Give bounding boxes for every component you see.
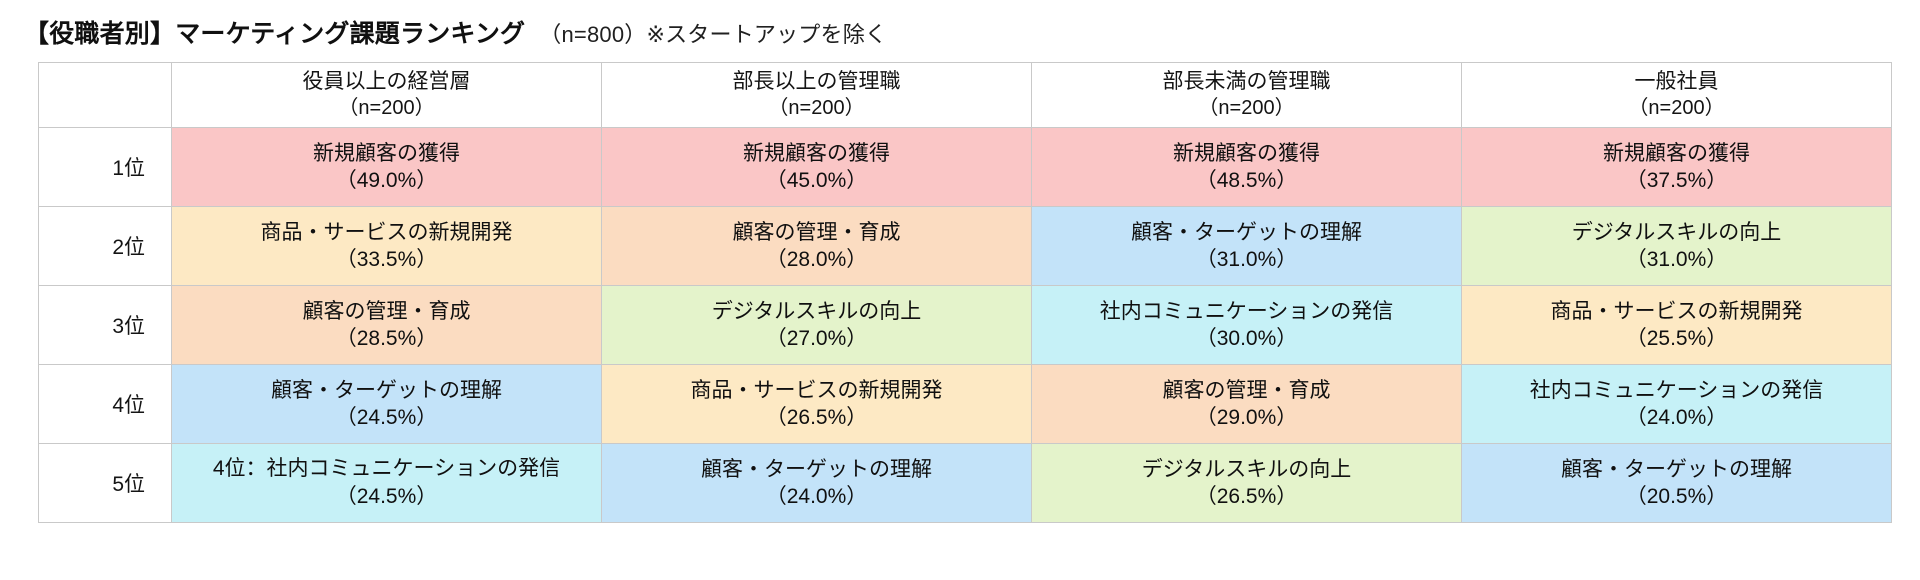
column-header-1-n: （n=200） <box>172 96 601 122</box>
cell-label-text: 新規顧客の獲得 <box>180 140 593 167</box>
rank-label-cell: 4位 <box>39 365 172 444</box>
rank-data-cell: 顧客の管理・育成（29.0%） <box>1032 365 1462 444</box>
rank-data-cell: 顧客の管理・育成（28.5%） <box>172 286 602 365</box>
table-header: 役員以上の経営層 （n=200） 部長以上の管理職 （n=200） 部長未満の管… <box>39 63 1892 128</box>
cell-percentage-text: （45.0%） <box>610 167 1023 194</box>
table-row: 1位新規顧客の獲得（49.0%）新規顧客の獲得（45.0%）新規顧客の獲得（48… <box>39 128 1892 207</box>
cell-percentage-text: （24.0%） <box>1470 404 1883 431</box>
cell-label-text: 新規顧客の獲得 <box>1470 140 1883 167</box>
table-row: 5位4位：社内コミュニケーションの発信（24.5%）顧客・ターゲットの理解（24… <box>39 444 1892 523</box>
cell-percentage-text: （24.5%） <box>180 404 593 431</box>
rank-data-cell: 顧客・ターゲットの理解（24.5%） <box>172 365 602 444</box>
cell-label-text: 商品・サービスの新規開発 <box>610 377 1023 404</box>
cell-percentage-text: （31.0%） <box>1040 246 1453 273</box>
cell-label-text: 社内コミュニケーションの発信 <box>1470 377 1883 404</box>
rank-data-cell: 商品・サービスの新規開発（26.5%） <box>602 365 1032 444</box>
column-header-4-n: （n=200） <box>1462 96 1891 122</box>
rank-data-cell: 顧客・ターゲットの理解（31.0%） <box>1032 207 1462 286</box>
table-row: 3位顧客の管理・育成（28.5%）デジタルスキルの向上（27.0%）社内コミュニ… <box>39 286 1892 365</box>
cell-label-text: 顧客・ターゲットの理解 <box>610 456 1023 483</box>
rank-data-cell: 4位：社内コミュニケーションの発信（24.5%） <box>172 444 602 523</box>
table-row: 4位顧客・ターゲットの理解（24.5%）商品・サービスの新規開発（26.5%）顧… <box>39 365 1892 444</box>
cell-label-text: 顧客の管理・育成 <box>1040 377 1453 404</box>
column-header-3: 部長未満の管理職 （n=200） <box>1032 63 1462 128</box>
table-container: 役員以上の経営層 （n=200） 部長以上の管理職 （n=200） 部長未満の管… <box>0 62 1920 523</box>
cell-percentage-text: （30.0%） <box>1040 325 1453 352</box>
ranking-table: 役員以上の経営層 （n=200） 部長以上の管理職 （n=200） 部長未満の管… <box>38 62 1892 523</box>
cell-percentage-text: （26.5%） <box>1040 483 1453 510</box>
rank-data-cell: デジタルスキルの向上（27.0%） <box>602 286 1032 365</box>
rank-data-cell: 顧客・ターゲットの理解（24.0%） <box>602 444 1032 523</box>
cell-label-text: 社内コミュニケーションの発信 <box>1040 298 1453 325</box>
column-header-1-name: 役員以上の経営層 <box>172 69 601 96</box>
cell-label-text: 新規顧客の獲得 <box>610 140 1023 167</box>
rank-data-cell: デジタルスキルの向上（26.5%） <box>1032 444 1462 523</box>
rank-data-cell: 新規顧客の獲得（49.0%） <box>172 128 602 207</box>
cell-label-text: デジタルスキルの向上 <box>610 298 1023 325</box>
column-header-1: 役員以上の経営層 （n=200） <box>172 63 602 128</box>
rank-data-cell: 社内コミュニケーションの発信（24.0%） <box>1462 365 1892 444</box>
column-header-2: 部長以上の管理職 （n=200） <box>602 63 1032 128</box>
cell-percentage-text: （48.5%） <box>1040 167 1453 194</box>
rank-data-cell: 顧客の管理・育成（28.0%） <box>602 207 1032 286</box>
column-header-3-name: 部長未満の管理職 <box>1032 69 1461 96</box>
cell-percentage-text: （26.5%） <box>610 404 1023 431</box>
cell-label-text: 顧客・ターゲットの理解 <box>180 377 593 404</box>
cell-combined-text: 4位：社内コミュニケーションの発信（24.5%） <box>180 455 593 510</box>
cell-label-text: 顧客・ターゲットの理解 <box>1470 456 1883 483</box>
cell-label-text: 顧客・ターゲットの理解 <box>1040 219 1453 246</box>
cell-label-text: 顧客の管理・育成 <box>180 298 593 325</box>
rank-data-cell: 商品・サービスの新規開発（33.5%） <box>172 207 602 286</box>
cell-percentage-text: （27.0%） <box>610 325 1023 352</box>
rank-data-cell: 商品・サービスの新規開発（25.5%） <box>1462 286 1892 365</box>
cell-label-text: 新規顧客の獲得 <box>1040 140 1453 167</box>
rank-label-cell: 1位 <box>39 128 172 207</box>
cell-percentage-text: （25.5%） <box>1470 325 1883 352</box>
column-header-4-name: 一般社員 <box>1462 69 1891 96</box>
rank-data-cell: 顧客・ターゲットの理解（20.5%） <box>1462 444 1892 523</box>
header-row: 役員以上の経営層 （n=200） 部長以上の管理職 （n=200） 部長未満の管… <box>39 63 1892 128</box>
column-header-3-n: （n=200） <box>1032 96 1461 122</box>
cell-percentage-text: （31.0%） <box>1470 246 1883 273</box>
cell-label-text: 顧客の管理・育成 <box>610 219 1023 246</box>
column-header-4: 一般社員 （n=200） <box>1462 63 1892 128</box>
cell-percentage-text: （37.5%） <box>1470 167 1883 194</box>
rank-data-cell: 新規顧客の獲得（37.5%） <box>1462 128 1892 207</box>
title-sub-text: （n=800）※スタートアップを除く <box>539 17 887 49</box>
cell-percentage-text: （33.5%） <box>180 246 593 273</box>
title-main-text: 【役職者別】マーケティング課題ランキング <box>24 14 525 50</box>
cell-percentage-text: （49.0%） <box>180 167 593 194</box>
rank-data-cell: 新規顧客の獲得（45.0%） <box>602 128 1032 207</box>
table-body: 1位新規顧客の獲得（49.0%）新規顧客の獲得（45.0%）新規顧客の獲得（48… <box>39 128 1892 523</box>
page-root: 【役職者別】マーケティング課題ランキング （n=800）※スタートアップを除く … <box>0 0 1920 580</box>
cell-label-text: 商品・サービスの新規開発 <box>1470 298 1883 325</box>
cell-label-text: デジタルスキルの向上 <box>1470 219 1883 246</box>
rank-label-cell: 5位 <box>39 444 172 523</box>
cell-percentage-text: （28.5%） <box>180 325 593 352</box>
rank-data-cell: デジタルスキルの向上（31.0%） <box>1462 207 1892 286</box>
cell-percentage-text: （29.0%） <box>1040 404 1453 431</box>
rank-label-cell: 2位 <box>39 207 172 286</box>
cell-label-text: 商品・サービスの新規開発 <box>180 219 593 246</box>
cell-percentage-text: （20.5%） <box>1470 483 1883 510</box>
cell-label-text: デジタルスキルの向上 <box>1040 456 1453 483</box>
column-header-2-name: 部長以上の管理職 <box>602 69 1031 96</box>
rank-label-cell: 3位 <box>39 286 172 365</box>
page-title: 【役職者別】マーケティング課題ランキング （n=800）※スタートアップを除く <box>0 0 1920 62</box>
rank-data-cell: 新規顧客の獲得（48.5%） <box>1032 128 1462 207</box>
table-row: 2位商品・サービスの新規開発（33.5%）顧客の管理・育成（28.0%）顧客・タ… <box>39 207 1892 286</box>
rank-data-cell: 社内コミュニケーションの発信（30.0%） <box>1032 286 1462 365</box>
column-header-2-n: （n=200） <box>602 96 1031 122</box>
cell-percentage-text: （24.0%） <box>610 483 1023 510</box>
cell-percentage-text: （28.0%） <box>610 246 1023 273</box>
table-corner-cell <box>39 63 172 128</box>
